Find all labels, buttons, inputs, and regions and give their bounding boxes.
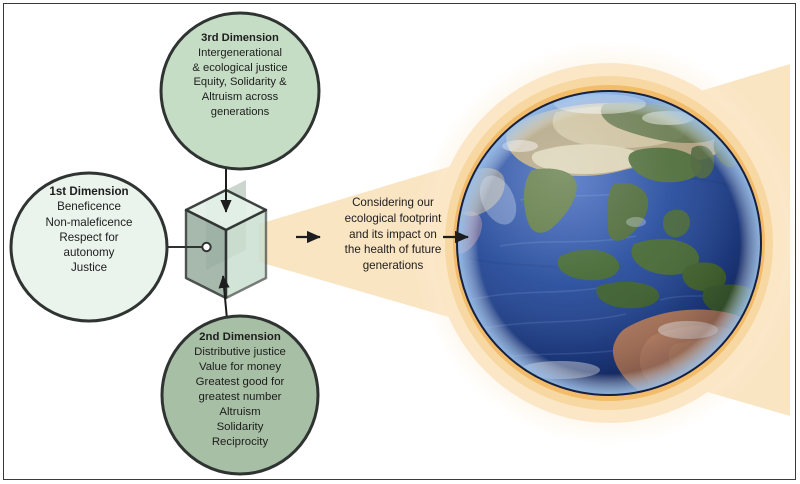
diagram-canvas: 3rd Dimension Intergenerational & ecolog… [0, 0, 800, 484]
node-dim1-bubble[interactable] [11, 173, 167, 321]
node-dim2-bubble[interactable] [162, 316, 318, 474]
diagram-vector-layer [0, 0, 800, 484]
node-dim3-bubble[interactable] [161, 13, 319, 169]
